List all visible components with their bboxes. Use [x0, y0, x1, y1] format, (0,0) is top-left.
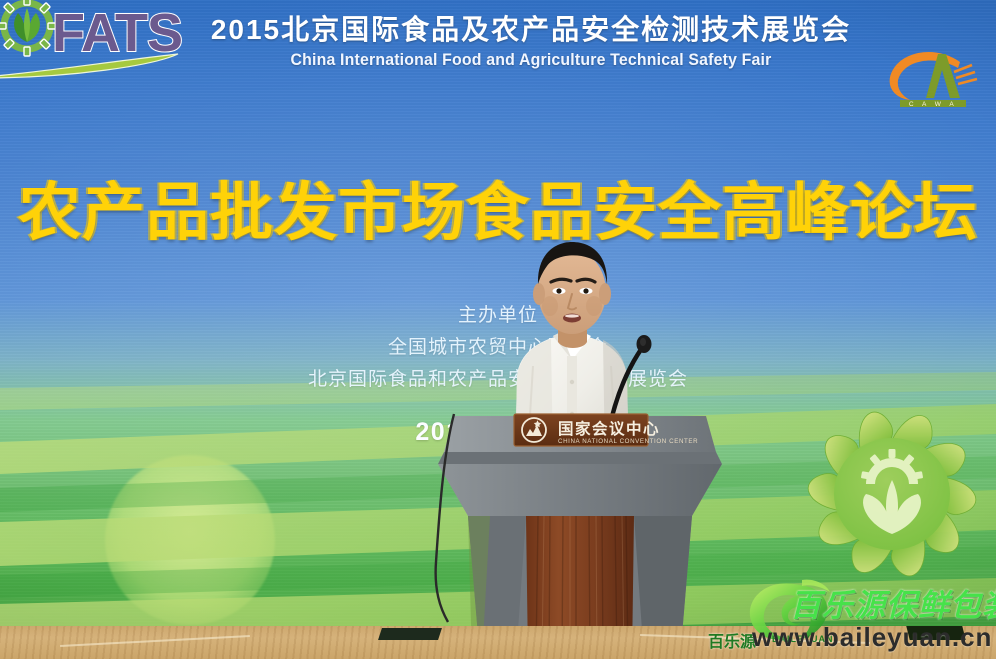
- banner-header-text: 2015北京国际食品及农产品安全检测技术展览会 China Internatio…: [196, 12, 866, 72]
- watermark-url: www.baileyuan.cn: [752, 622, 992, 653]
- cawa-logo: C A W A: [876, 34, 988, 116]
- watermark-mark-cn: 百乐源: [708, 628, 756, 652]
- watermark-brand: 百乐源保鲜包装: [790, 580, 996, 625]
- fats-swoosh-icon: [0, 52, 192, 80]
- banner-title-en: China International Food and Agriculture…: [209, 48, 852, 72]
- podium-plaque-cn: 国家会议中心: [558, 419, 660, 438]
- banner-title-cn: 2015北京国际食品及农产品安全检测技术展览会: [196, 12, 866, 48]
- cawa-wordmark: C A W A: [909, 101, 957, 108]
- watermark: 百乐源 BAILEYUAN 百乐源保鲜包装 www.baileyuan.cn: [700, 578, 996, 656]
- floor-object-left: [378, 628, 442, 640]
- green-sunflower-graphic: [788, 396, 996, 592]
- sunflower-petals: [805, 407, 979, 581]
- photo-canvas: FATS 2015北京国际食品及农产品安全检测技术展览会 China Inter…: [0, 0, 996, 659]
- fats-logo: FATS: [0, 0, 190, 95]
- podium-plaque-en: CHINA NATIONAL CONVENTION CENTER: [558, 438, 698, 445]
- speaking-podium: 国家会议中心 CHINA NATIONAL CONVENTION CENTER: [430, 412, 730, 659]
